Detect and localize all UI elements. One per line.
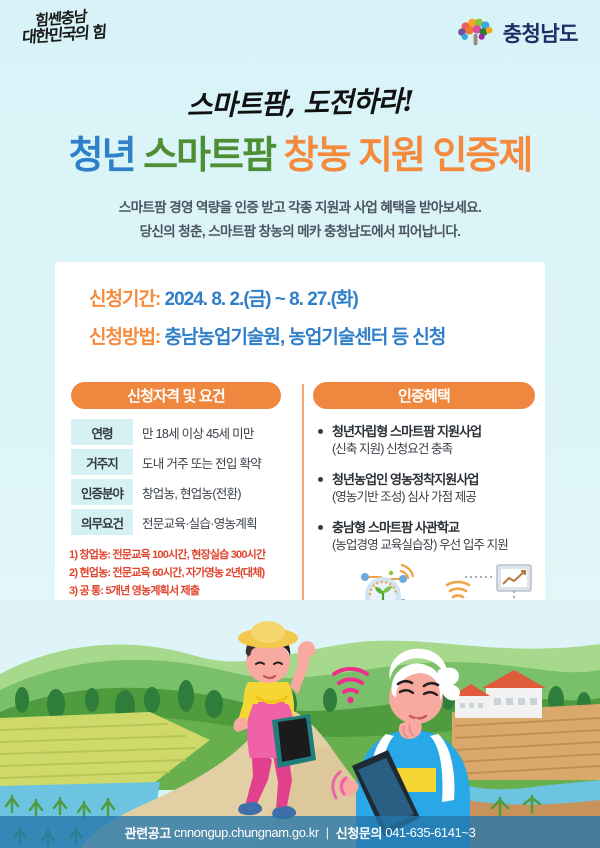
footer-separator: | [326,825,329,840]
application-period-label: 신청기간: [89,289,160,310]
application-period-row: 신청기간: 2024. 8. 2.(금) ~ 8. 27.(화) [89,284,358,311]
benefit-3-detail: (농업경영 교육실습장) 우선 입주 지원 [332,537,535,555]
footer-bar: 관련공고 cnnongup.chungnam.go.kr | 신청문의 041-… [0,816,600,848]
benefit-2-title: 청년농업인 영농정착지원사업 [332,471,535,489]
note-1-label: 창업농: [79,549,110,561]
hero-subtitle: 스마트팜 경영 역량을 인증 받고 각종 지원과 사업 혜택을 받아보세요. 당… [0,196,600,243]
qual-key-duty: 의무요건 [71,509,133,535]
poster-root: 힘쎈충남 대한민국의 힘 충청남도 스마트팜, 도전하라! 청년 [0,0,600,848]
title-word-youth: 청년 [69,135,135,177]
benefits-list: 청년자립형 스마트팜 지원사업 (신축 지원) 신청요건 충족 청년농업인 영농… [317,423,535,554]
list-item: 충남형 스마트팜 사관학교 (농업경영 교육실습장) 우선 입주 지원 [317,519,535,554]
qual-value-duty: 전문교육·실습·영농계획 [133,509,295,535]
qual-key-residence: 거주지 [71,449,133,475]
table-row: 거주지 도내 거주 또는 전입 확약 [71,449,295,475]
qual-value-age: 만 18세 이상 45세 미만 [133,419,295,445]
table-row: 인증분야 창업농, 현업농(전환) [71,479,295,505]
table-row: 연령 만 18세 이상 45세 미만 [71,419,295,445]
footer-contact-phone: 041-635-6141~3 [385,825,475,840]
application-method-value: 충남농업기술원, 농업기술센터 등 신청 [165,327,446,348]
qualification-panel: 신청자격 및 요건 연령 만 18세 이상 45세 미만 거주지 도내 거주 또… [65,382,295,600]
note-3-label: 공 통: [79,585,103,597]
qualification-heading: 신청자격 및 요건 [71,382,281,409]
title-word-smartfarm: 스마트팜 [143,135,275,177]
subtitle-line-2: 당신의 청춘, 스마트팜 창농의 메카 충청남도에서 피어납니다. [0,220,600,244]
application-period-value: 2024. 8. 2.(금) ~ 8. 27.(화) [165,289,358,310]
info-card: 신청기간: 2024. 8. 2.(금) ~ 8. 27.(화) 신청방법: 충… [55,262,545,630]
benefit-2-detail: (영농기반 조성) 심사 가점 제공 [332,489,535,507]
note-3-num: 3) [69,585,77,597]
gov-logo-label: 충청남도 [503,18,578,48]
benefit-1-title: 청년자립형 스마트팜 지원사업 [332,423,535,441]
poster-header: 힘쎈충남 대한민국의 힘 충청남도 [0,0,600,70]
footer-contact-label: 신청문의 [336,823,382,842]
note-item: 1) 창업농: 전문교육 100시간, 현장실습 300시간 [69,547,295,565]
note-1-text: 전문교육 100시간, 현장실습 300시간 [113,549,266,561]
benefit-1-detail: (신축 지원) 신청요건 충족 [332,441,535,459]
footer-notice-url[interactable]: cnnongup.chungnam.go.kr [174,825,319,840]
title-word-program: 창농 지원 인증제 [284,135,532,177]
qualification-notes: 1) 창업농: 전문교육 100시간, 현장실습 300시간 2) 현업농: 전… [69,547,295,600]
note-1-num: 1) [69,549,77,561]
qual-key-age: 연령 [71,419,133,445]
chungnam-slogan-calligraphy: 힘쎈충남 대한민국의 힘 [21,7,133,61]
table-row: 의무요건 전문교육·실습·영농계획 [71,509,295,535]
list-item: 청년자립형 스마트팜 지원사업 (신축 지원) 신청요건 충족 [317,423,535,458]
application-method-label: 신청방법: [89,327,160,348]
note-item: 3) 공 통: 5개년 영농계획서 제출 [69,583,295,601]
list-item: 청년농업인 영농정착지원사업 (영농기반 조성) 심사 가점 제공 [317,471,535,506]
chungcheongnamdo-logo: 충청남도 [457,18,578,48]
flower-tree-logo-icon [457,18,495,48]
note-2-text: 전문교육 60시간, 자가영농 2년(대체) [113,567,265,579]
qual-value-field: 창업농, 현업농(전환) [133,479,295,505]
note-2-label: 현업농: [79,567,110,579]
panel-divider [302,384,304,612]
footer-notice-label: 관련공고 [125,823,171,842]
benefits-panel: 인증혜택 청년자립형 스마트팜 지원사업 (신축 지원) 신청요건 충족 청년농… [313,382,535,567]
benefit-3-title: 충남형 스마트팜 사관학교 [332,519,535,537]
subtitle-line-1: 스마트팜 경영 역량을 인증 받고 각종 지원과 사업 혜택을 받아보세요. [0,196,600,220]
application-method-row: 신청방법: 충남농업기술원, 농업기술센터 등 신청 [89,322,445,349]
note-3-text: 5개년 영농계획서 제출 [105,585,199,597]
qual-key-field: 인증분야 [71,479,133,505]
qualification-table: 연령 만 18세 이상 45세 미만 거주지 도내 거주 또는 전입 확약 인증… [71,419,295,535]
farm-landscape-illustration [0,600,600,848]
note-2-num: 2) [69,567,77,579]
benefits-heading: 인증혜택 [313,382,535,409]
page-title: 청년 스마트팜 창농 지원 인증제 [0,124,600,179]
note-item: 2) 현업농: 전문교육 60시간, 자가영농 2년(대체) [69,565,295,583]
qual-value-residence: 도내 거주 또는 전입 확약 [133,449,295,475]
